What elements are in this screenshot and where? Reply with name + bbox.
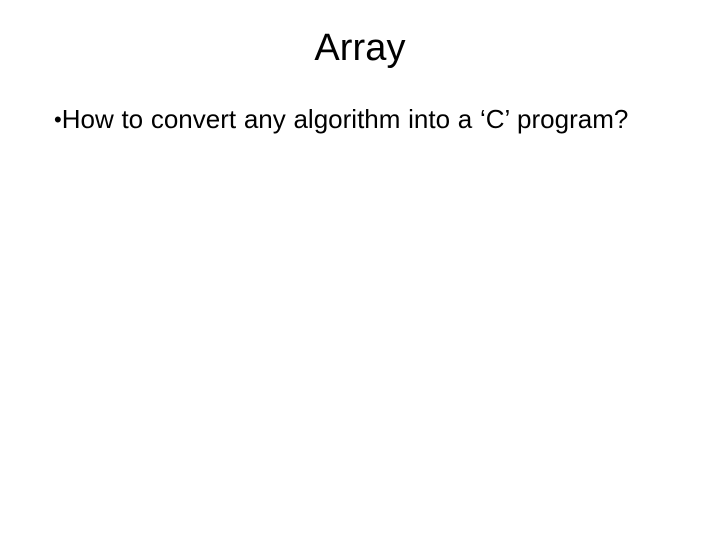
slide-empty-region bbox=[0, 185, 720, 540]
slide-canvas: Array •How to convert any algorithm into… bbox=[0, 0, 720, 540]
slide-body-placeholder[interactable]: •How to convert any algorithm into a ‘C’… bbox=[54, 103, 629, 136]
bullet-item-text: How to convert any algorithm into a ‘C’ … bbox=[62, 104, 629, 134]
page-title: Array bbox=[0, 26, 720, 70]
bullet-list-item: •How to convert any algorithm into a ‘C’… bbox=[54, 103, 629, 136]
bullet-icon: • bbox=[54, 107, 62, 132]
